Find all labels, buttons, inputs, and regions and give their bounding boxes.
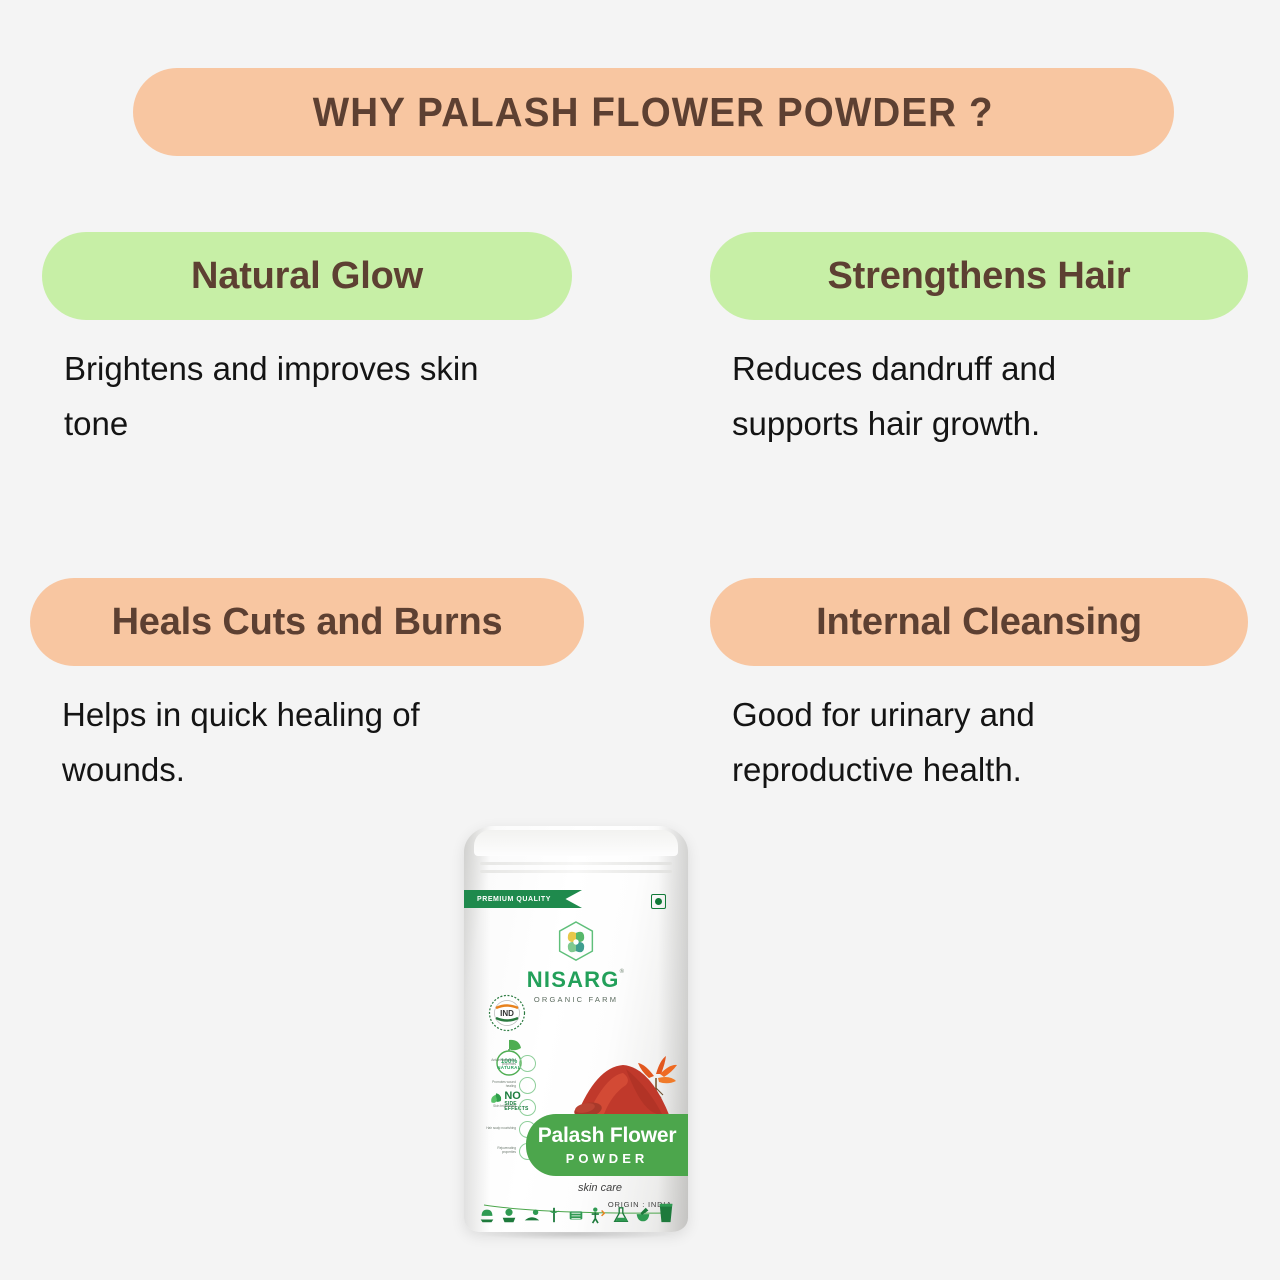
harvest-icon [478,1206,496,1224]
side-benefit-label: Skin brightening [486,1105,516,1109]
powder-mound-illustration [568,1044,684,1124]
side-benefit-item: Anti-inflammatory properties [486,1052,542,1074]
process-icon-row [478,1198,676,1224]
wound-healing-icon [519,1077,536,1094]
packaging-icon [656,1202,676,1224]
benefit-pill-strengthens-hair: Strengthens Hair [710,232,1248,320]
side-benefit-label: Promotes wound healing [486,1081,516,1088]
benefit-card-internal-cleansing: Internal Cleansing Good for urinary and … [710,578,1248,798]
sieving-icon [567,1206,585,1224]
quality-check-icon [589,1206,607,1224]
product-name-band: Palash Flower POWDER [526,1114,688,1176]
brand-logo: NISARG® ORGANIC FARM [464,920,688,1004]
pouch-zip-line [480,870,672,873]
benefit-description: Reduces dandruff and supports hair growt… [710,342,1190,452]
registered-mark: ® [620,969,626,975]
product-type: POWDER [566,1152,649,1165]
mortar-pestle-icon [634,1206,652,1224]
lab-testing-icon [612,1206,630,1224]
benefit-label: Natural Glow [191,255,423,298]
side-benefit-label: Anti-inflammatory properties [486,1059,516,1066]
brand-name: NISARG® [464,969,688,991]
benefit-pill-natural-glow: Natural Glow [42,232,572,320]
benefit-pill-heals-cuts-and-burns: Heals Cuts and Burns [30,578,584,666]
benefit-description: Brightens and improves skin tone [42,342,512,452]
pouch-zip-line [480,862,672,865]
drying-icon [523,1206,541,1224]
side-benefit-label: Hair scalp nourishing [486,1127,516,1131]
benefit-description: Good for urinary and reproductive health… [710,688,1190,798]
benefit-description: Helps in quick healing of wounds. [30,688,500,798]
pouch-top-fin [474,830,678,856]
premium-quality-ribbon: PREMIUM QUALITY [464,890,582,908]
svg-text:IND: IND [500,1009,514,1018]
product-name: Palash Flower [538,1125,677,1146]
benefit-card-natural-glow: Natural Glow Brightens and improves skin… [42,232,572,452]
benefit-label: Strengthens Hair [828,255,1131,298]
benefit-label: Internal Cleansing [816,601,1142,644]
brand-name-text: NISARG [527,967,620,992]
benefit-card-heals-cuts-and-burns: Heals Cuts and Burns Helps in quick heal… [30,578,584,798]
benefit-pill-internal-cleansing: Internal Cleansing [710,578,1248,666]
side-benefit-label: Rejuvenating properties [486,1147,516,1154]
side-benefit-item: Promotes wound healing [486,1074,542,1096]
infographic-page: WHY PALASH FLOWER POWDER ? Natural Glow … [0,0,1280,1280]
ribbon-label: PREMIUM QUALITY [477,896,551,903]
product-use-case: skin care [526,1182,674,1194]
product-image: PREMIUM QUALITY NISARG® ORGANIC FARM [452,820,700,1238]
side-benefit-item: Skin brightening [486,1096,542,1118]
grinding-icon [545,1206,563,1224]
veg-mark-icon [651,894,666,909]
benefit-label: Heals Cuts and Burns [112,601,503,644]
benefit-card-strengthens-hair: Strengthens Hair Reduces dandruff and su… [710,232,1248,452]
skin-brightening-icon [519,1099,536,1116]
pouch-left-sheen [464,826,490,1232]
anti-inflammatory-icon [519,1055,536,1072]
made-in-india-icon: IND [488,994,526,1032]
nisarg-hexagon-icon [556,920,596,964]
product-pouch: PREMIUM QUALITY NISARG® ORGANIC FARM [464,826,688,1232]
washing-icon [500,1206,518,1224]
